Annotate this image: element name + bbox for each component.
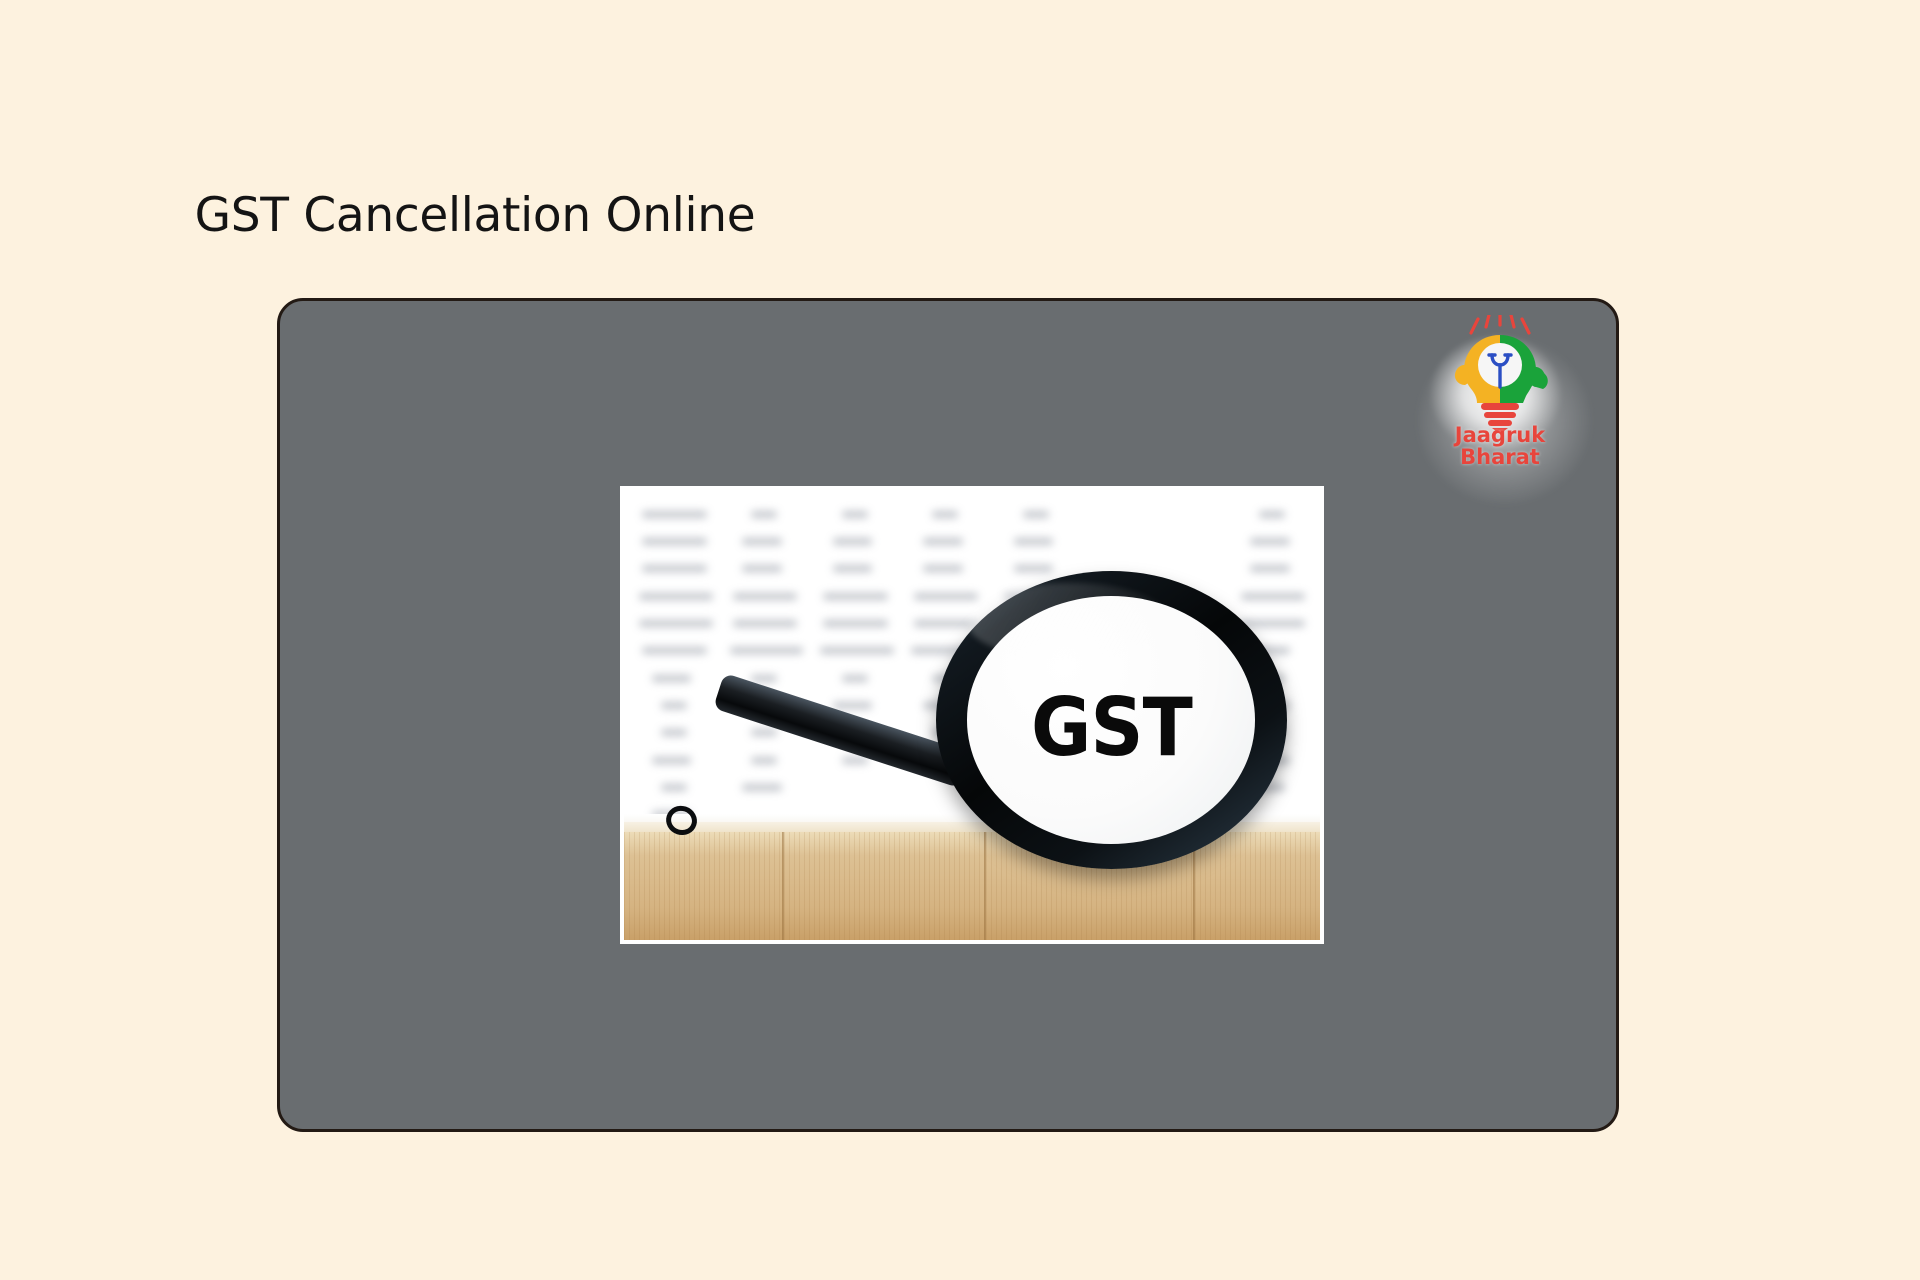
magnifier-lens: GST [967,596,1255,843]
photo-inner: GST [624,490,1320,940]
lens-label: GST [1031,688,1192,768]
brand-logo: Jaagruk Bharat [1402,298,1598,509]
wood-block [624,832,784,940]
magnifier-ring: GST [936,571,1287,869]
gst-photo: GST [620,486,1324,944]
magnifying-glass-icon: GST [902,571,1320,895]
media-card: Jaagruk Bharat [277,298,1619,1132]
lightbulb-heads-logo-icon [1437,315,1563,433]
page-title: GST Cancellation Online [0,192,1920,239]
brand-wordmark: Jaagruk Bharat [1415,425,1585,469]
